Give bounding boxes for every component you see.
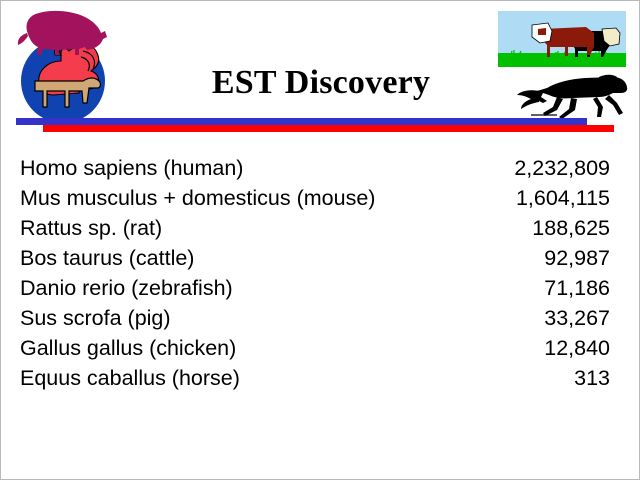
species-name: Rattus sp. (rat) [20,213,487,243]
species-count: 188,625 [487,213,610,243]
table-row: Bos taurus (cattle) 92,987 [20,243,610,273]
species-name: Danio rerio (zebrafish) [20,273,487,303]
table-row: Gallus gallus (chicken) 12,840 [20,333,610,363]
page-title: EST Discovery [141,63,501,103]
slide-header: EST Discovery [1,1,640,133]
blue-divider-bar [16,118,587,125]
presentation-slide: EST Discovery [0,0,640,480]
species-name: Bos taurus (cattle) [20,243,487,273]
species-name: Sus scrofa (pig) [20,303,487,333]
est-counts-table: Homo sapiens (human) 2,232,809 Mus muscu… [20,153,610,393]
table-row: Homo sapiens (human) 2,232,809 [20,153,610,183]
species-name: Gallus gallus (chicken) [20,333,487,363]
table-row: Mus musculus + domesticus (mouse) 1,604,… [20,183,610,213]
species-count: 71,186 [487,273,610,303]
species-count: 313 [487,363,610,393]
species-count: 92,987 [487,243,610,273]
species-name: Mus musculus + domesticus (mouse) [20,183,487,213]
red-divider-bar [43,125,614,132]
species-count: 12,840 [487,333,610,363]
cattle-in-pasture-photo [498,11,626,67]
table-row: Sus scrofa (pig) 33,267 [20,303,610,333]
table-row: Danio rerio (zebrafish) 71,186 [20,273,610,303]
est-counts-body: Homo sapiens (human) 2,232,809 Mus muscu… [20,153,610,393]
species-count: 2,232,809 [487,153,610,183]
table-row: Rattus sp. (rat) 188,625 [20,213,610,243]
table-row: Equus caballus (horse) 313 [20,363,610,393]
species-count: 33,267 [487,303,610,333]
species-count: 1,604,115 [487,183,610,213]
species-name: Homo sapiens (human) [20,153,487,183]
species-name: Equus caballus (horse) [20,363,487,393]
galloping-horse-silhouette [513,71,635,123]
photo-grass [498,53,626,67]
pig-rooster-cow-logo [9,3,121,125]
